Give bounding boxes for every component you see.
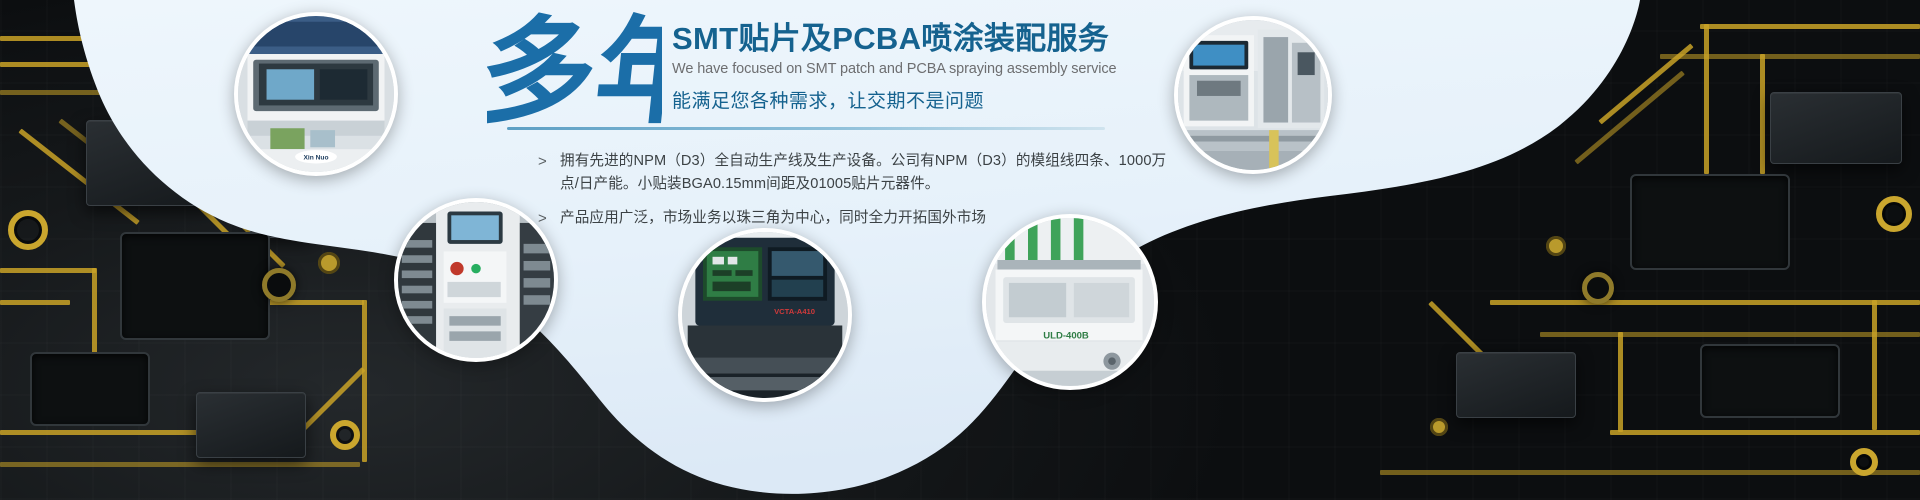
subtitle-chinese: 能满足您各种需求，让交期不是问题 [672,86,1172,113]
list-item-text: 产品应用广泛，市场业务以珠三角为中心，同时全力开拓国外市场 [560,207,986,230]
calligraphy-duonian: 多年 [487,8,662,143]
photo-chip-mounter-machine [394,198,558,362]
photo-caption: VCTA-A410 [774,307,815,316]
list-item-text: 拥有先进的NPM（D3）全自动生产线及生产设备。公司有NPM（D3）的模组线四条… [560,150,1178,196]
chevron-right-icon: > [538,150,560,196]
photo-caption: Xin Nuo [303,155,328,162]
aoi-inspection-image: VCTA-A410 [682,232,848,398]
smt-printer-image: Xin Nuo [238,16,394,172]
photo-uld-loader-machine: ULD-400B [982,214,1158,390]
photo-aoi-inspection-machine: VCTA-A410 [678,228,852,402]
chip-mounter-image [398,202,554,358]
photo-caption: ULD-400B [1043,330,1089,341]
divider-line [507,127,1105,130]
photo-reflow-line-equipment [1174,16,1332,174]
page-title: SMT贴片及PCBA喷涂装配服务 [672,22,1172,57]
list-item: > 拥有先进的NPM（D3）全自动生产线及生产设备。公司有NPM（D3）的模组线… [538,150,1178,196]
promo-banner: 多年 SMT贴片及PCBA喷涂装配服务 We have focused on S… [0,0,1920,500]
reflow-line-image [1178,20,1328,170]
photo-smt-printer-machine: Xin Nuo [234,12,398,176]
uld-loader-image: ULD-400B [986,218,1154,386]
subtitle-english: We have focused on SMT patch and PCBA sp… [672,60,1172,80]
calligraphy-text: 多年 [487,9,662,138]
title-block: SMT贴片及PCBA喷涂装配服务 We have focused on SMT … [672,22,1172,113]
